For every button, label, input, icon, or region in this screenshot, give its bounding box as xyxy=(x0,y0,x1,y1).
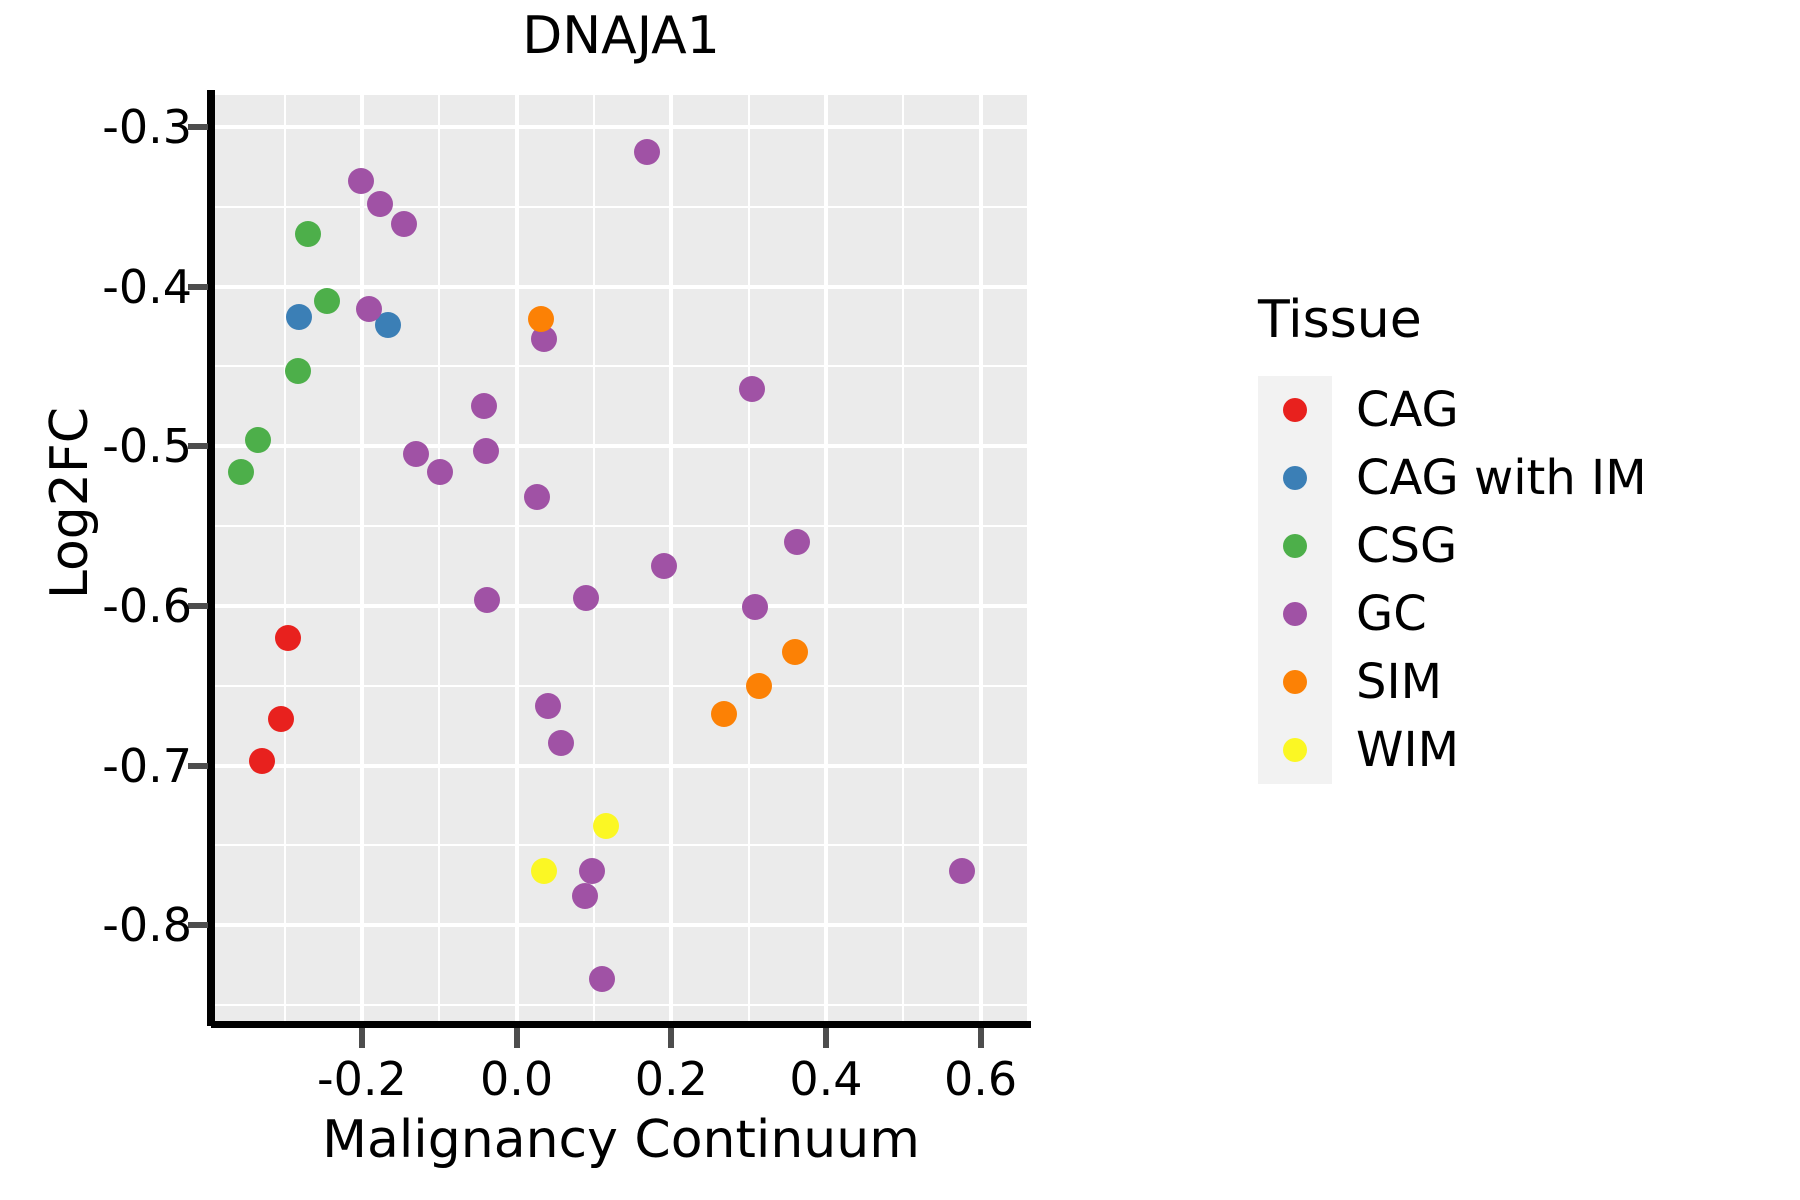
y-axis-title: Log2FC xyxy=(40,223,100,783)
x-axis-tick xyxy=(978,1028,984,1048)
data-point-gc xyxy=(651,553,677,579)
x-axis-tick xyxy=(514,1028,520,1048)
legend-dot-icon xyxy=(1283,534,1307,558)
legend-dot-icon xyxy=(1283,466,1307,490)
data-point-gc xyxy=(784,529,810,555)
gridline-minor-horizontal xyxy=(215,1004,1027,1006)
data-point-gc xyxy=(356,296,382,322)
data-point-cag xyxy=(275,625,301,651)
gridline-minor-vertical xyxy=(748,95,750,1021)
gridline-minor-horizontal xyxy=(215,525,1027,527)
legend-swatch xyxy=(1258,580,1332,648)
gridline-minor-vertical xyxy=(438,95,440,1021)
legend-item-wim[interactable]: WIM xyxy=(1258,716,1647,784)
data-point-sim xyxy=(746,673,772,699)
gridline-major-horizontal xyxy=(215,923,1027,927)
legend-item-cag[interactable]: CAG xyxy=(1258,376,1647,444)
gridline-minor-horizontal xyxy=(215,206,1027,208)
gridline-major-horizontal xyxy=(215,285,1027,289)
data-point-sim xyxy=(711,701,737,727)
data-point-cag xyxy=(249,748,275,774)
data-point-gc xyxy=(403,441,429,467)
data-point-gc xyxy=(739,376,765,402)
data-point-gc xyxy=(535,693,561,719)
chart-root: DNAJA1 -0.3-0.4-0.5-0.6-0.7-0.8-0.20.00.… xyxy=(0,0,1800,1200)
legend-dot-icon xyxy=(1283,738,1307,762)
gridline-major-vertical xyxy=(515,95,519,1021)
legend-item-sim[interactable]: SIM xyxy=(1258,648,1647,716)
x-axis-tick xyxy=(359,1028,365,1048)
legend-item-label: CAG xyxy=(1356,382,1459,438)
data-point-gc xyxy=(589,966,615,992)
data-point-cag-with-im xyxy=(286,304,312,330)
x-axis-title: Malignancy Continuum xyxy=(215,1110,1027,1170)
data-point-sim xyxy=(782,639,808,665)
x-axis-line xyxy=(211,1021,1031,1028)
x-axis-tick-label: 0.6 xyxy=(944,1052,1017,1106)
legend-item-csg[interactable]: CSG xyxy=(1258,512,1647,580)
data-point-csg xyxy=(295,221,321,247)
gridline-minor-horizontal xyxy=(215,844,1027,846)
legend: Tissue CAGCAG with IMCSGGCSIMWIM xyxy=(1258,290,1647,784)
y-axis-tick-label: -0.7 xyxy=(102,739,192,793)
gridline-minor-vertical xyxy=(284,95,286,1021)
data-point-sim xyxy=(528,306,554,332)
gridline-major-horizontal xyxy=(215,604,1027,608)
gridline-major-horizontal xyxy=(215,125,1027,129)
legend-item-label: GC xyxy=(1356,586,1427,642)
legend-swatch xyxy=(1258,716,1332,784)
legend-swatch xyxy=(1258,376,1332,444)
legend-title: Tissue xyxy=(1258,290,1647,350)
gridline-minor-vertical xyxy=(902,95,904,1021)
gridline-major-vertical xyxy=(360,95,364,1021)
y-axis-tick-label: -0.4 xyxy=(102,260,192,314)
legend-swatch xyxy=(1258,648,1332,716)
y-axis-tick-label: -0.5 xyxy=(102,419,192,473)
data-point-gc xyxy=(391,211,417,237)
data-point-gc xyxy=(473,438,499,464)
legend-swatch xyxy=(1258,444,1332,512)
legend-dot-icon xyxy=(1283,602,1307,626)
x-axis-tick-label: 0.0 xyxy=(480,1052,553,1106)
y-axis-tick-label: -0.6 xyxy=(102,579,192,633)
page-title: DNAJA1 xyxy=(215,8,1027,65)
data-point-gc xyxy=(572,883,598,909)
legend-item-label: CSG xyxy=(1356,518,1457,574)
legend-item-cag-with-im[interactable]: CAG with IM xyxy=(1258,444,1647,512)
gridline-major-horizontal xyxy=(215,764,1027,768)
data-point-gc xyxy=(524,484,550,510)
data-point-csg xyxy=(245,427,271,453)
data-point-cag xyxy=(268,706,294,732)
data-point-gc xyxy=(949,858,975,884)
legend-item-label: WIM xyxy=(1356,722,1459,778)
y-axis-tick-label: -0.8 xyxy=(102,898,192,952)
plot-panel xyxy=(215,95,1027,1021)
x-axis-tick-label: 0.2 xyxy=(635,1052,708,1106)
data-point-wim xyxy=(593,813,619,839)
x-axis-tick xyxy=(823,1028,829,1048)
x-axis-tick xyxy=(668,1028,674,1048)
data-point-gc xyxy=(471,393,497,419)
data-point-gc xyxy=(474,587,500,613)
gridline-minor-horizontal xyxy=(215,365,1027,367)
data-point-csg xyxy=(314,288,340,314)
gridline-minor-horizontal xyxy=(215,685,1027,687)
y-axis-tick-label: -0.3 xyxy=(102,100,192,154)
data-point-gc xyxy=(573,585,599,611)
gridline-major-vertical xyxy=(979,95,983,1021)
data-point-gc xyxy=(348,168,374,194)
legend-swatch xyxy=(1258,512,1332,580)
x-axis-tick-label: 0.4 xyxy=(789,1052,862,1106)
data-point-gc xyxy=(742,594,768,620)
gridline-major-horizontal xyxy=(215,444,1027,448)
legend-item-label: SIM xyxy=(1356,654,1442,710)
data-point-gc xyxy=(548,730,574,756)
data-point-wim xyxy=(531,858,557,884)
legend-item-label: CAG with IM xyxy=(1356,450,1647,506)
legend-dot-icon xyxy=(1283,398,1307,422)
data-point-csg xyxy=(285,358,311,384)
legend-items: CAGCAG with IMCSGGCSIMWIM xyxy=(1258,376,1647,784)
legend-dot-icon xyxy=(1283,670,1307,694)
data-point-gc xyxy=(634,139,660,165)
data-point-csg xyxy=(228,459,254,485)
y-axis-line xyxy=(207,90,215,1026)
data-point-gc xyxy=(579,858,605,884)
x-axis-tick-label: -0.2 xyxy=(317,1052,407,1106)
data-point-gc xyxy=(367,191,393,217)
gridline-major-vertical xyxy=(824,95,828,1021)
legend-item-gc[interactable]: GC xyxy=(1258,580,1647,648)
data-point-gc xyxy=(427,459,453,485)
